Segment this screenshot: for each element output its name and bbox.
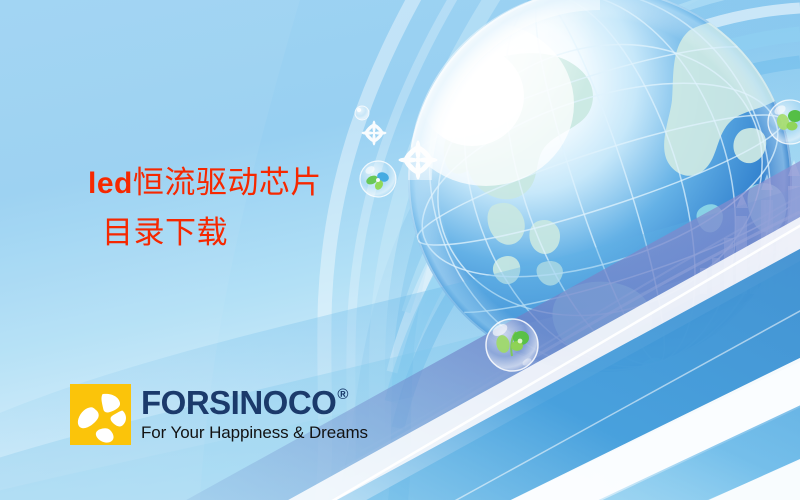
pinwheel-petals-icon: [70, 384, 131, 445]
brand-tagline: For Your Happiness & Dreams: [141, 424, 368, 441]
sprout-icon-lower: [495, 331, 529, 356]
light-trails: [330, 196, 800, 492]
earth-globe: [362, 0, 800, 415]
sprout-icon-right: [776, 110, 800, 131]
registered-trademark-icon: ®: [337, 387, 348, 402]
headline-text: led恒流驱动芯片 目录下载: [88, 163, 322, 254]
sparkle-asterisk-small: [362, 121, 387, 146]
bubble-green-sprout-upper: [360, 161, 396, 197]
headline-line-2: 目录下载: [102, 213, 322, 253]
globe-specular-highlight: [362, 0, 662, 260]
swirl-arcs-upper-right: [392, 0, 800, 428]
continent-north-america: [664, 19, 797, 176]
headline-line-1: led恒流驱动芯片: [88, 163, 322, 203]
sprout-icon-upper: [365, 171, 390, 191]
globe-longitude-lines: [381, 0, 800, 415]
forsinoco-logo[interactable]: FORSINOCO® For Your Happiness & Dreams: [70, 384, 368, 445]
bubble-right-edge: [768, 100, 800, 144]
bubble-small-top: [355, 106, 369, 120]
globe-left-rim-glow: [408, 0, 600, 180]
banner-canvas: led恒流驱动芯片 目录下载 FORSINOCO® For Your Happi…: [0, 0, 800, 500]
logo-wordmark: FORSINOCO® For Your Happiness & Dreams: [141, 386, 368, 441]
sparkle-asterisk-large: [399, 141, 438, 180]
brand-text: FORSINOCO: [141, 386, 336, 419]
brand-name: FORSINOCO®: [141, 386, 368, 419]
globe-latitude-lines: [399, 3, 800, 356]
city-skyline-silhouette: [700, 160, 800, 294]
headline-cjk: 恒流驱动芯片: [133, 165, 322, 201]
headline-latin: led: [88, 167, 133, 200]
swirl-arcs-background: [320, 0, 800, 500]
continents-eastern: [444, 53, 593, 285]
bubble-green-sprout-lower: [486, 319, 538, 371]
forsinoco-pinwheel-mark: [70, 384, 131, 445]
continent-australia: [552, 282, 666, 379]
continent-south-america: [697, 183, 787, 233]
